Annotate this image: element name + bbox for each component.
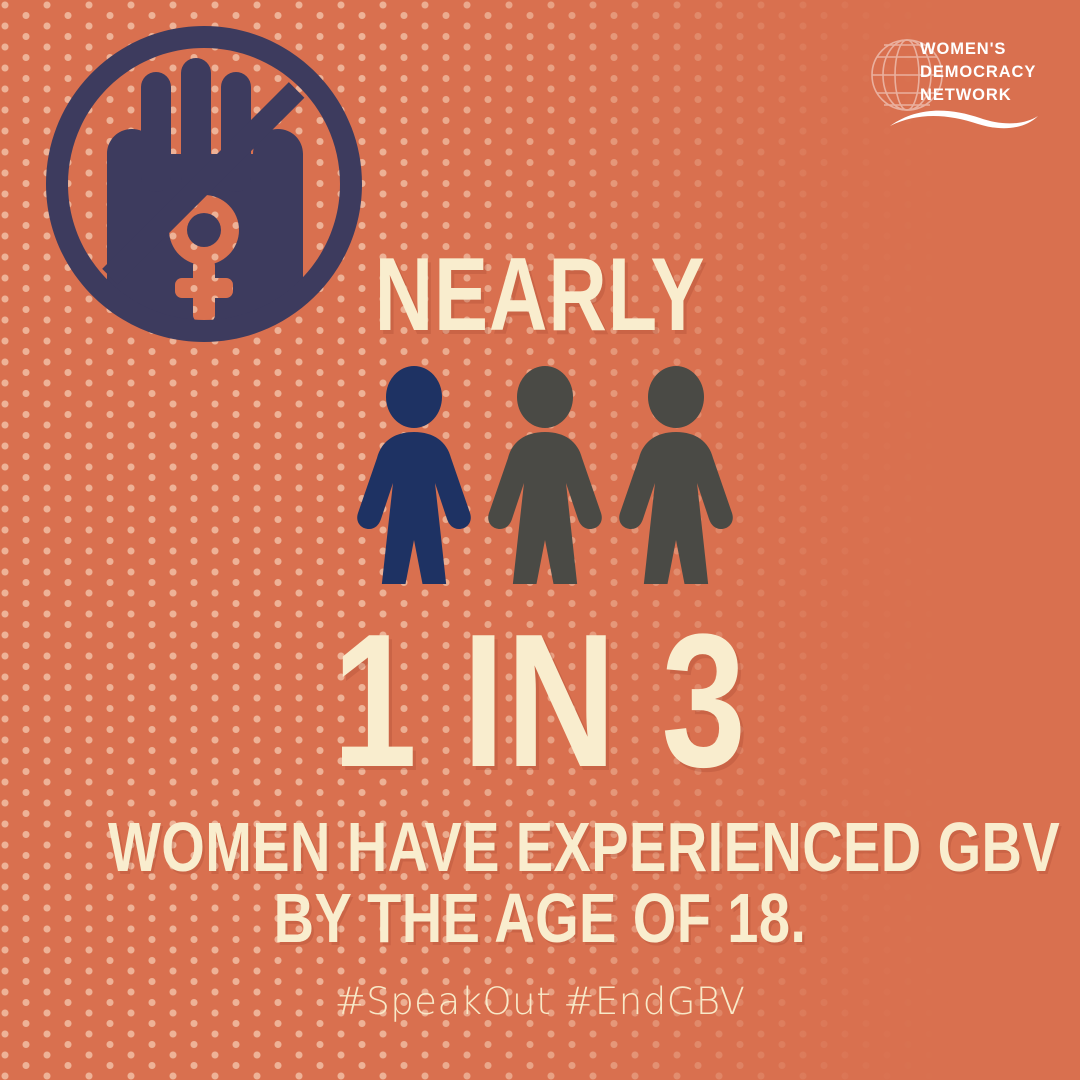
statistic-headline: 1 IN 3 xyxy=(108,606,972,796)
wdn-logo: WOMEN'S DEMOCRACY NETWORK xyxy=(870,32,1042,140)
swoosh-icon xyxy=(888,104,1042,134)
wdn-wordmark-line-2: DEMOCRACY xyxy=(920,61,1036,84)
wdn-wordmark-line-1: WOMEN'S xyxy=(920,38,1036,61)
person-figure-highlighted xyxy=(355,366,473,584)
person-figure-muted xyxy=(486,366,604,584)
headline-kicker: NEARLY xyxy=(119,243,961,347)
pictogram-figure-row xyxy=(355,366,735,584)
infographic-poster: WOMEN'S DEMOCRACY NETWORK NEARLY xyxy=(0,0,1080,1080)
body-copy-line-2: BY THE AGE OF 18. xyxy=(108,883,972,954)
hashtag-line: #SpeakOut #EndGBV xyxy=(0,980,1080,1023)
body-copy-line-1: WOMEN HAVE EXPERIENCED GBV xyxy=(108,812,972,883)
person-figure-muted xyxy=(617,366,735,584)
wdn-wordmark: WOMEN'S DEMOCRACY NETWORK xyxy=(920,38,1036,107)
body-copy: WOMEN HAVE EXPERIENCED GBV BY THE AGE OF… xyxy=(0,812,1080,955)
